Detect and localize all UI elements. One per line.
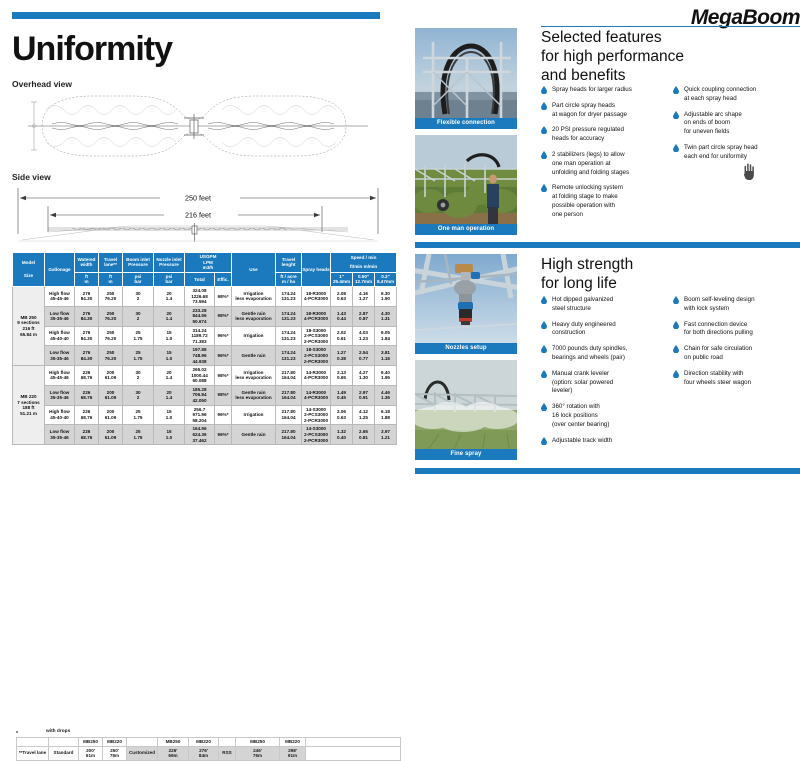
left-panel: Uniformity Overhead view (8, 0, 404, 513)
water-drop-icon (673, 370, 680, 379)
water-drop-icon (673, 144, 680, 153)
brochure-page: Uniformity Overhead view (0, 0, 800, 513)
photo-fine-spray: Fine spray (415, 360, 517, 460)
water-drop-icon (541, 321, 548, 330)
cell-speed-third-in: 3.81 1.16 (375, 346, 397, 366)
tl-standard: Standard (49, 746, 79, 760)
cell-speed-1in: 2.08 0.63 (331, 286, 353, 306)
cell-travel-lenght: 174.24 131.23 (276, 346, 302, 366)
feature-list-selected-left: Spray heads for larger radiusPart circle… (541, 86, 659, 227)
feature-selected-right-item: Quick coupling connection at each spray … (673, 86, 800, 104)
cell-gallonage: High flow 45-45-46 (45, 286, 75, 306)
cell-usgpm-total: 314.24 1189.72 71.383 (185, 326, 215, 346)
cell-gallonage: Low flow 35-35-46 (45, 425, 75, 445)
cell-speed-third-in: 6.05 1.84 (375, 326, 397, 346)
cell-speed-1in: 1.32 0.40 (331, 425, 353, 445)
cell-travel-lenght: 174.24 131.23 (276, 286, 302, 306)
cell-speed-half-in: 2.97 0.91 (353, 385, 375, 405)
photo-one-man-operation-art (415, 135, 517, 235)
water-drop-icon (673, 296, 680, 305)
table-row: Low flow 35-35-46226 68.76200 61.0930 22… (13, 385, 397, 405)
cell-efficiency: 98%* (215, 385, 232, 405)
page-title: Uniformity (12, 30, 172, 69)
feature-strength-right-item: Boom self-leveling design with lock syst… (673, 296, 800, 314)
footnote-with-drops: with drops (46, 729, 70, 734)
cell-speed-half-in: 4.16 1.27 (353, 286, 375, 306)
th-watered-width-units: ft m (75, 272, 99, 286)
cell-travel-lane: 200 61.09 (99, 385, 123, 405)
cell-usgpm-total: 265.02 1000.44 60.088 (185, 366, 215, 386)
cell-boom-inlet-pressure: 25 1.75 (123, 425, 154, 445)
cell-boom-inlet-pressure: 30 2 (123, 286, 154, 306)
feature-selected-left-label: Spray heads for larger radius (552, 86, 632, 93)
feature-list-selected-right: Quick coupling connection at each spray … (673, 86, 800, 169)
cell-nozzle-inlet-pressure: 15 1.0 (154, 326, 185, 346)
cell-speed-half-in: 4.03 1.23 (353, 326, 375, 346)
cell-gallonage: High flow 45-40-40 (45, 405, 75, 425)
th-use: Use (232, 253, 276, 287)
cell-speed-1in: 1.49 0.45 (331, 385, 353, 405)
divider-blue-bar-2 (415, 468, 800, 474)
th-nozzle-inlet-pressure: Nozzle inlet Pressure (154, 253, 185, 273)
feature-strength-left-label: Heavy duty engineered construction (552, 321, 616, 337)
cell-spray-heads: 18-R3000 4-PCR3000 (302, 306, 331, 326)
model-size-cell: MB 250 9 sections 216 ft 65.84 m (13, 286, 45, 365)
th-boom-inlet-units: psi bar (123, 272, 154, 286)
th-travel-lenght-units: ft / acre m / ha (276, 272, 302, 286)
th-model: Model Size (13, 253, 45, 287)
cell-travel-lane: 250 76.20 (99, 306, 123, 326)
mouse-cursor-hand-icon (740, 160, 758, 182)
brand-underline (541, 26, 800, 27)
feature-strength-left-item: 7000 pounds duty spindles, bearings and … (541, 345, 663, 363)
feature-strength-right-label: Fast connection device for both directio… (684, 321, 753, 337)
feature-strength-left-item: Heavy duty engineered construction (541, 321, 663, 339)
cell-spray-heads: 14-R3000 4-PCR3000 (302, 366, 331, 386)
table-row: High flow 45-40-40226 68.76200 61.0925 1… (13, 405, 397, 425)
table-row: Low flow 35-35-46276 84.30250 76.2025 1.… (13, 346, 397, 366)
spec-table: Model Size Gallonage Watered width Trave… (12, 252, 397, 445)
cell-use: Irrigation (232, 326, 276, 346)
cell-watered-width: 276 84.30 (75, 326, 99, 346)
tl-head-mb220-b: MB220 (189, 738, 219, 747)
cell-efficiency: 96%* (215, 405, 232, 425)
water-drop-icon (541, 403, 548, 412)
water-drop-icon (541, 126, 548, 135)
overhead-view-drawing (12, 90, 384, 162)
feature-strength-left-item: 360° rotation with 16 lock positions (ov… (541, 403, 663, 429)
travel-data-row: **Travel lane Standard 200' 61m 250' 76m… (17, 746, 401, 760)
cell-usgpm-total: 233.28 844.56 50.674 (185, 306, 215, 326)
feature-selected-left-label: 2 stabilizers (legs) to allow one man op… (552, 151, 629, 176)
tl-blank-3 (127, 738, 158, 747)
cell-efficiency: 96%* (215, 346, 232, 366)
cell-nozzle-inlet-pressure: 15 1.0 (154, 425, 185, 445)
tl-standard-mb220: 250' 76m (103, 746, 127, 760)
photo-caption-nozzles-setup: Nozzles setup (415, 343, 517, 354)
th-total: Total (185, 272, 215, 286)
tl-blank-1 (17, 738, 49, 747)
photo-one-man-operation: One man operation (415, 135, 517, 235)
cell-use: Gentle rain (232, 425, 276, 445)
photo-caption-fine-spray: Fine spray (415, 449, 517, 460)
th-gallonage: Gallonage (45, 253, 75, 287)
section-title-selected-features: Selected features for high performance a… (541, 29, 684, 86)
feature-strength-right-label: Direction stability with four wheels ste… (684, 370, 751, 386)
divider-blue-bar-1 (415, 242, 800, 248)
cell-efficiency: 96%* (215, 425, 232, 445)
cell-speed-third-in: 3.97 1.21 (375, 425, 397, 445)
feature-strength-right-item: Fast connection device for both directio… (673, 321, 800, 339)
cell-travel-lenght: 217.80 164.04 (276, 366, 302, 386)
cell-usgpm-total: 164.96 624.36 37.462 (185, 425, 215, 445)
feature-selected-right-item: Twin part circle spray head each end for… (673, 144, 800, 162)
cell-boom-inlet-pressure: 30 2 (123, 306, 154, 326)
th-speed-half: 0.50" 12.7mm (353, 272, 375, 286)
cell-speed-third-in: 4.30 1.31 (375, 306, 397, 326)
cell-nozzle-inlet-pressure: 20 1.4 (154, 306, 185, 326)
th-watered-width: Watered width (75, 253, 99, 273)
cell-travel-lenght: 217.80 164.04 (276, 405, 302, 425)
cell-travel-lane: 200 61.09 (99, 405, 123, 425)
cell-watered-width: 226 68.76 (75, 405, 99, 425)
cell-efficiency: 98%* (215, 306, 232, 326)
cell-boom-inlet-pressure: 25 1.75 (123, 326, 154, 346)
th-m3h-label: m3/h (185, 265, 231, 271)
side-view-drawing: 250 feet 216 feet (12, 184, 384, 246)
cell-use: Irrigation less evaporation (232, 286, 276, 306)
tl-customized-mb220: 276' 84m (189, 746, 219, 760)
th-travel-lenght: Travel lenght (276, 253, 302, 273)
tl-blank-2 (49, 738, 79, 747)
cell-travel-lane: 200 61.09 (99, 366, 123, 386)
water-drop-icon (673, 86, 680, 95)
cell-spray-heads: 14-S3000 2-PCS3000 2-PCR3000 (302, 425, 331, 445)
cell-travel-lenght: 217.80 164.04 (276, 425, 302, 445)
table-row: High flow 45-40-40276 84.30250 76.2025 1… (13, 326, 397, 346)
table-row: MB 220 7 sections 188 ft 51.21 mHigh flo… (13, 366, 397, 386)
cell-travel-lane: 200 61.09 (99, 425, 123, 445)
feature-selected-right-label: Twin part circle spray head each end for… (684, 144, 758, 160)
cell-speed-third-in: 6.30 1.90 (375, 286, 397, 306)
th-usgpm: USGPM LPM m3/h (185, 253, 232, 273)
feature-strength-right-label: Boom self-leveling design with lock syst… (684, 296, 755, 312)
cell-efficiency: 98%* (215, 286, 232, 306)
th-speed: Speed / min ft/min m/min (331, 253, 397, 273)
tl-head-mb220-c: MB220 (280, 738, 306, 747)
water-drop-icon (541, 296, 548, 305)
th-effic: Effic. (215, 272, 232, 286)
photo-flexible-connection: Flexible connection (415, 28, 517, 129)
th-speed-units: ft/min m/min (331, 264, 396, 270)
cell-gallonage: Low flow 35-35-46 (45, 385, 75, 405)
tl-blank-4 (219, 738, 236, 747)
feature-list-strength-left: Hot dipped galvanized steel structureHea… (541, 296, 663, 452)
tl-head-mb250-b: MB250 (158, 738, 189, 747)
cell-spray-heads: 18-S3000 2-PCS3000 2-PCR3000 (302, 346, 331, 366)
water-drop-icon (541, 102, 548, 111)
water-drop-icon (541, 345, 548, 354)
th-speed-label: Speed / min (331, 255, 396, 261)
feature-selected-left-item: Spray heads for larger radius (541, 86, 659, 95)
cell-usgpm-total: 197.88 748.96 44.938 (185, 346, 215, 366)
feature-selected-right-label: Quick coupling connection at each spray … (684, 86, 756, 102)
tl-head-mb250-c: MB250 (236, 738, 280, 747)
cell-speed-third-in: 6.40 1.95 (375, 366, 397, 386)
travel-lane-table: MB250 MB220 MB250 MB220 MB250 MB220 **Tr… (16, 737, 401, 761)
table-row: Low flow 35-35-46276 84.30250 76.2030 22… (13, 306, 397, 326)
cell-efficiency: 96%* (215, 326, 232, 346)
cell-usgpm-total: 324.08 1226.68 73.594 (185, 286, 215, 306)
cell-nozzle-inlet-pressure: 15 1.0 (154, 346, 185, 366)
feature-selected-left-item: Remote unlocking system at folding stage… (541, 184, 659, 219)
water-drop-icon (541, 86, 548, 95)
tl-head-mb250-a: MB250 (79, 738, 103, 747)
cell-use: Irrigation (232, 405, 276, 425)
cell-efficiency: 98%* (215, 366, 232, 386)
feature-strength-left-item: Manual crank leveler (option: solar powe… (541, 370, 663, 396)
section-title-high-strength: High strength for long life (541, 256, 633, 294)
cell-travel-lenght: 174.24 131.23 (276, 306, 302, 326)
cell-travel-lane: 250 76.20 (99, 326, 123, 346)
header-row-1: Model Size Gallonage Watered width Trave… (13, 253, 397, 273)
cell-speed-half-in: 2.87 0.87 (353, 306, 375, 326)
water-drop-icon (673, 111, 680, 120)
th-travel-lane: Travel lane** (99, 253, 123, 273)
cell-speed-1in: 2.06 0.63 (331, 405, 353, 425)
feature-strength-left-item: Adjustable track width (541, 437, 663, 446)
cell-nozzle-inlet-pressure: 20 1.4 (154, 366, 185, 386)
feature-strength-right-item: Direction stability with four wheels ste… (673, 370, 800, 388)
cell-spray-heads: 18-R3000 4-PCR3000 (302, 286, 331, 306)
cell-watered-width: 226 68.76 (75, 425, 99, 445)
water-drop-icon (673, 345, 680, 354)
travel-head-row: MB250 MB220 MB250 MB220 MB250 MB220 (17, 738, 401, 747)
cell-watered-width: 226 68.76 (75, 385, 99, 405)
cell-watered-width: 276 84.30 (75, 286, 99, 306)
top-blue-rule (12, 12, 380, 19)
feature-strength-left-label: Manual crank leveler (option: solar powe… (552, 370, 613, 395)
th-size-label: Size (13, 273, 44, 279)
th-speed-third: 0.3" 8.47mm (375, 272, 397, 286)
th-boom-inlet-pressure: Boom inlet Pressure (123, 253, 154, 273)
tl-rss-mb220: 298' 91m (280, 746, 306, 760)
tl-customized: Customized (127, 746, 158, 760)
cell-usgpm-total: 256.7 971.96 58.204 (185, 405, 215, 425)
spec-table-body: MB 250 9 sections 216 ft 65.84 mHigh flo… (13, 286, 397, 444)
tl-rss: RSS (219, 746, 236, 760)
cell-use: Gentle rain less evaporation (232, 306, 276, 326)
cell-use: Gentle rain (232, 346, 276, 366)
spec-table-wrap: Model Size Gallonage Watered width Trave… (12, 252, 396, 445)
feature-selected-right-label: Adjustable arc shape on ends of boom for… (684, 111, 742, 136)
cell-speed-1in: 2.13 0.65 (331, 366, 353, 386)
cell-spray-heads: 14-R3000 4-PCR3000 (302, 385, 331, 405)
th-spray-heads: Spray heads (302, 253, 331, 287)
feature-strength-left-label: Hot dipped galvanized steel structure (552, 296, 613, 312)
tl-standard-mb250: 200' 61m (79, 746, 103, 760)
photo-fine-spray-art (415, 360, 517, 460)
cell-travel-lenght: 174.24 131.23 (276, 326, 302, 346)
photo-nozzles-setup: Nozzles setup (415, 254, 517, 354)
cell-speed-1in: 1.43 0.44 (331, 306, 353, 326)
cell-travel-lane: 250 76.20 (99, 286, 123, 306)
feature-strength-left-label: 360° rotation with 16 lock positions (ov… (552, 403, 609, 428)
cell-gallonage: High flow 45-45-46 (45, 366, 75, 386)
th-speed-1in: 1" 25.4mm (331, 272, 353, 286)
cell-gallonage: Low flow 35-35-46 (45, 306, 75, 326)
dim-outer-text: 250 feet (185, 193, 211, 202)
feature-strength-left-label: 7000 pounds duty spindles, bearings and … (552, 345, 627, 361)
tl-head-mb220-a: MB220 (103, 738, 127, 747)
feature-selected-left-label: Remote unlocking system at folding stage… (552, 184, 623, 217)
feature-selected-left-item: 20 PSI pressure regulated heads for accu… (541, 126, 659, 144)
photo-nozzles-setup-art (415, 254, 517, 354)
cell-use: Irrigation less evaporation (232, 366, 276, 386)
cell-use: Gentle rain less evaporation (232, 385, 276, 405)
feature-strength-right-item: Chain for safe circulation on public roa… (673, 345, 800, 363)
spec-table-head: Model Size Gallonage Watered width Trave… (13, 253, 397, 287)
cell-speed-1in: 1.27 0.38 (331, 346, 353, 366)
table-row: MB 250 9 sections 216 ft 65.84 mHigh flo… (13, 286, 397, 306)
cell-speed-half-in: 4.27 1.30 (353, 366, 375, 386)
photo-flexible-connection-art (415, 28, 517, 129)
cell-travel-lane: 250 76.20 (99, 346, 123, 366)
tl-customized-mb250: 226' 69m (158, 746, 189, 760)
cell-usgpm-total: 185.28 706.84 42.050 (185, 385, 215, 405)
cell-nozzle-inlet-pressure: 20 1.4 (154, 286, 185, 306)
cell-speed-half-in: 2.65 0.81 (353, 425, 375, 445)
th-travel-lane-units: ft m (99, 272, 123, 286)
cell-gallonage: High flow 45-40-40 (45, 326, 75, 346)
cell-boom-inlet-pressure: 25 1.75 (123, 405, 154, 425)
feature-list-strength-right: Boom self-leveling design with lock syst… (673, 296, 800, 394)
feature-strength-right-label: Chain for safe circulation on public roa… (684, 345, 752, 361)
cell-boom-inlet-pressure: 25 1.75 (123, 346, 154, 366)
cell-spray-heads: 14-S3000 2-PCS3000 2-PCR3000 (302, 405, 331, 425)
cell-gallonage: Low flow 35-35-46 (45, 346, 75, 366)
feature-selected-left-label: 20 PSI pressure regulated heads for accu… (552, 126, 624, 142)
cell-speed-1in: 2.02 0.61 (331, 326, 353, 346)
cell-watered-width: 226 68.76 (75, 366, 99, 386)
tl-rss-mb250: 246' 76m (236, 746, 280, 760)
overhead-view-label: Overhead view (12, 79, 72, 89)
tl-blank-5 (306, 738, 401, 747)
cell-speed-third-in: 4.46 1.36 (375, 385, 397, 405)
cell-speed-half-in: 2.54 0.77 (353, 346, 375, 366)
right-panel: MegaBoom (415, 0, 800, 513)
model-size-cell: MB 220 7 sections 188 ft 51.21 m (13, 366, 45, 445)
feature-strength-left-label: Adjustable track width (552, 437, 612, 444)
cell-nozzle-inlet-pressure: 20 1.4 (154, 385, 185, 405)
cell-watered-width: 276 84.30 (75, 346, 99, 366)
cell-boom-inlet-pressure: 30 2 (123, 366, 154, 386)
cell-nozzle-inlet-pressure: 15 1.0 (154, 405, 185, 425)
tl-travel-lane-note: **Travel lane (17, 746, 49, 760)
water-drop-icon (541, 184, 548, 193)
water-drop-icon (673, 321, 680, 330)
photo-caption-flexible-connection: Flexible connection (415, 118, 517, 129)
dim-inner-text: 216 feet (185, 210, 211, 219)
feature-selected-left-item: 2 stabilizers (legs) to allow one man op… (541, 151, 659, 177)
water-drop-icon (541, 370, 548, 379)
water-drop-icon (541, 151, 548, 160)
cell-travel-lenght: 217.80 164.04 (276, 385, 302, 405)
tl-blank-6 (306, 746, 401, 760)
table-row: Low flow 35-35-46226 68.76200 61.0925 1.… (13, 425, 397, 445)
feature-strength-left-item: Hot dipped galvanized steel structure (541, 296, 663, 314)
photo-caption-one-man-operation: One man operation (415, 224, 517, 235)
cell-boom-inlet-pressure: 30 2 (123, 385, 154, 405)
feature-selected-right-item: Adjustable arc shape on ends of boom for… (673, 111, 800, 137)
cell-spray-heads: 18-S3000 2-PCS3000 2-PCR3000 (302, 326, 331, 346)
side-view-label: Side view (12, 172, 51, 182)
cell-speed-half-in: 4.12 1.25 (353, 405, 375, 425)
feature-selected-left-item: Part circle spray heads at wagon for dry… (541, 102, 659, 120)
th-nozzle-inlet-units: psi bar (154, 272, 185, 286)
feature-selected-left-label: Part circle spray heads at wagon for dry… (552, 102, 627, 118)
cell-speed-third-in: 6.18 1.88 (375, 405, 397, 425)
cell-watered-width: 276 84.30 (75, 306, 99, 326)
water-drop-icon (541, 437, 548, 446)
